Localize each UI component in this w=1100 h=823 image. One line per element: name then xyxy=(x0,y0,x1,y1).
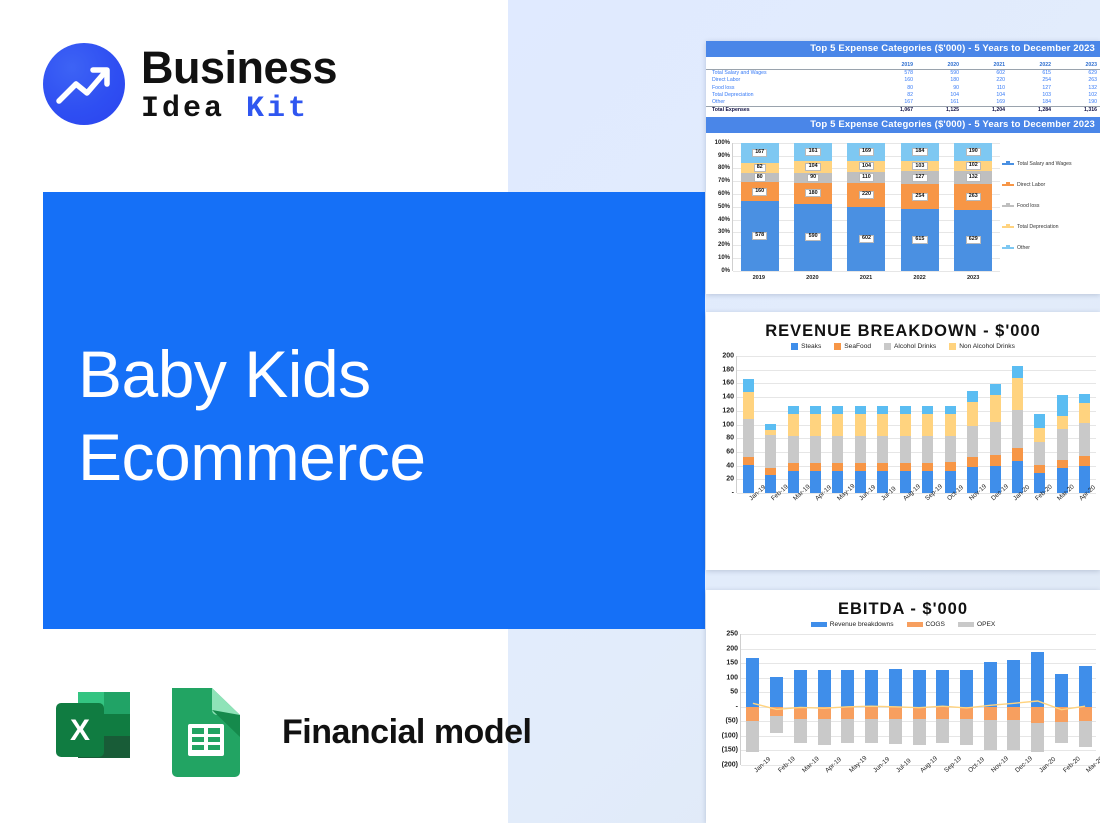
cell-value: 1,316 xyxy=(1054,106,1100,114)
bar-data-label: 102 xyxy=(966,162,981,170)
y-tick-label: 180 xyxy=(722,366,734,373)
legend-item[interactable]: Total Salary and Wages xyxy=(1002,161,1098,167)
cell-value: 161 xyxy=(916,98,962,106)
y-tick-label: 120 xyxy=(722,407,734,414)
bar-segment xyxy=(810,463,821,471)
bar-data-label: 90 xyxy=(807,174,819,182)
y-tick-label: 90% xyxy=(718,153,730,159)
bar-segment: 127 xyxy=(901,171,939,184)
cell-value: 127 xyxy=(1008,84,1054,91)
bar-segment xyxy=(922,463,933,471)
bar-segment xyxy=(922,436,933,463)
legend-swatch xyxy=(791,343,798,350)
x-tick-label: 2020 xyxy=(806,275,818,281)
bar-segment xyxy=(967,391,978,402)
bar-segment xyxy=(743,392,754,419)
y-tick-label: 0% xyxy=(721,268,730,274)
bar-segment xyxy=(877,414,888,436)
format-row: X Financial model xyxy=(46,682,531,783)
bar-segment xyxy=(1034,428,1045,442)
cell-value: 104 xyxy=(962,91,1008,98)
bar-data-label: 254 xyxy=(912,193,927,201)
y-tick-label: 60 xyxy=(726,448,734,455)
bar-segment: 167 xyxy=(741,143,779,163)
bar-data-label: 80 xyxy=(754,173,766,181)
bar-segment: 103 xyxy=(901,161,939,171)
bar-data-label: 104 xyxy=(859,162,874,170)
bar-segment xyxy=(832,471,843,493)
bar-segment: 104 xyxy=(794,161,832,173)
bar-column xyxy=(765,356,776,493)
legend-item[interactable]: Non Alcohol Drinks xyxy=(949,343,1015,350)
bar-segment xyxy=(743,465,754,493)
y-axis: 100%90%80%70%60%50%40%30%20%10%0% xyxy=(706,137,732,287)
bar-segment xyxy=(1012,378,1023,410)
bar-column xyxy=(1012,356,1023,493)
bar-segment xyxy=(810,436,821,463)
bar-column xyxy=(900,356,911,493)
bar-segment: 578 xyxy=(741,201,779,270)
bar-segment xyxy=(855,463,866,471)
bar-segment xyxy=(1034,465,1045,473)
bar-segment xyxy=(1079,394,1090,402)
bar-column xyxy=(832,356,843,493)
legend-swatch xyxy=(958,622,974,627)
bar-segment: 602 xyxy=(847,207,885,271)
cell-value: 615 xyxy=(1008,69,1054,77)
cell-value: 578 xyxy=(870,69,916,77)
legend-label: Total Salary and Wages xyxy=(1017,161,1072,167)
y-tick-label: 30% xyxy=(718,229,730,235)
x-axis-labels: 20192020202120222023 xyxy=(732,275,1000,281)
bar-segment xyxy=(900,436,911,463)
revenue-plot: 20018016014012010080604020-Jan-19Feb-19M… xyxy=(706,352,1100,537)
y-axis: 20018016014012010080604020- xyxy=(706,352,736,537)
x-tick-label: 2021 xyxy=(860,275,872,281)
bar-segment xyxy=(1012,410,1023,448)
y-tick-label: (200) xyxy=(722,762,738,769)
bar-segment xyxy=(1079,423,1090,456)
bar-segment: 160 xyxy=(741,182,779,201)
y-tick-label: (150) xyxy=(722,747,738,754)
bar-segment xyxy=(877,406,888,414)
bar-segment xyxy=(765,435,776,468)
table-row: Total Expenses1,0671,1251,2041,2841,316 xyxy=(706,106,1100,114)
cell-value: 169 xyxy=(962,98,1008,106)
bar-data-label: 263 xyxy=(966,193,981,201)
legend-swatch xyxy=(1002,163,1014,165)
legend-label: Alcohol Drinks xyxy=(894,343,936,350)
y-tick-label: 250 xyxy=(726,631,738,638)
bar-segment xyxy=(855,406,866,414)
y-tick-label: 60% xyxy=(718,191,730,197)
cell-value: 2021 xyxy=(962,61,1008,69)
bar-segment xyxy=(990,455,1001,466)
plot-area xyxy=(740,634,1096,765)
row-label: Direct Labor xyxy=(706,77,870,84)
y-tick-label: - xyxy=(736,703,738,710)
table-row: Other167161169184190 xyxy=(706,98,1100,106)
y-tick-label: 100% xyxy=(715,140,730,146)
bar-segment xyxy=(1034,414,1045,428)
bar-column xyxy=(945,356,956,493)
bar-segment xyxy=(788,463,799,471)
bar-segment xyxy=(945,436,956,462)
bar-segment: 254 xyxy=(901,184,939,209)
bar-data-label: 127 xyxy=(912,174,927,182)
bar-column: 1678280160578 xyxy=(741,143,779,271)
cell-value: 110 xyxy=(962,84,1008,91)
bar-segment xyxy=(990,384,1001,395)
trending-up-arrow-icon xyxy=(43,43,125,125)
cell-value: 254 xyxy=(1008,77,1054,84)
cell-value: 184 xyxy=(1008,98,1054,106)
cell-value: 80 xyxy=(870,84,916,91)
bar-column xyxy=(810,356,821,493)
legend-swatch xyxy=(1002,205,1014,207)
cell-value: 104 xyxy=(916,91,962,98)
bar-segment xyxy=(743,379,754,391)
y-tick-label: 80 xyxy=(726,435,734,442)
bar-segment xyxy=(765,468,776,475)
bar-segment xyxy=(900,463,911,471)
table-row: Direct Labor160180220254263 xyxy=(706,77,1100,84)
x-tick-label: 2019 xyxy=(753,275,765,281)
bar-segment xyxy=(1079,403,1090,424)
brand-name-line1: Business xyxy=(141,45,337,90)
bar-segment: 90 xyxy=(794,173,832,183)
legend-swatch xyxy=(1002,247,1014,249)
bar-segment xyxy=(945,462,956,471)
bar-data-label: 169 xyxy=(859,148,874,156)
bar-segment xyxy=(922,406,933,414)
page-title-line2: Ecommerce xyxy=(78,416,638,499)
bar-segment xyxy=(1012,366,1023,378)
bar-segment xyxy=(743,457,754,465)
page-title: Baby Kids Ecommerce xyxy=(78,333,638,498)
bar-segment xyxy=(1057,460,1068,468)
bar-segment xyxy=(1057,395,1068,416)
slide-canvas: Business Idea Kit Baby Kids Ecommerce X xyxy=(0,0,1100,823)
bar-segment: 615 xyxy=(901,209,939,270)
brand-logo: Business Idea Kit xyxy=(43,43,337,125)
legend-swatch xyxy=(834,343,841,350)
bar-column: 169104110220602 xyxy=(847,143,885,271)
bar-data-label: 167 xyxy=(752,149,767,157)
legend-item[interactable]: COGS xyxy=(907,621,945,628)
y-tick-label: 10% xyxy=(718,255,730,261)
bar-segment: 220 xyxy=(847,183,885,206)
bar-segment xyxy=(967,457,978,467)
table-row: 20192020202120222023 xyxy=(706,61,1100,69)
cell-value: 1,204 xyxy=(962,106,1008,114)
legend-label: Direct Labor xyxy=(1017,182,1045,188)
bar-segment xyxy=(1034,442,1045,465)
expense-stacked-chart: 100%90%80%70%60%50%40%30%20%10%0%1678280… xyxy=(706,137,1100,287)
svg-text:X: X xyxy=(70,714,90,747)
cell-value: 103 xyxy=(1008,91,1054,98)
bar-segment xyxy=(832,406,843,414)
cell-value: 2020 xyxy=(916,61,962,69)
cell-value: 90 xyxy=(916,84,962,91)
revenue-chart-legend: SteaksSeaFoodAlcohol DrinksNon Alcohol D… xyxy=(706,343,1100,350)
bar-column xyxy=(990,356,1001,493)
y-tick-label: - xyxy=(732,490,734,497)
plot-area xyxy=(736,356,1096,493)
legend-item[interactable]: Steaks xyxy=(791,343,821,350)
bar-segment: 104 xyxy=(847,161,885,172)
legend-label: OPEX xyxy=(977,621,995,628)
legend-label: Total Depreciation xyxy=(1017,224,1059,230)
bar-segment xyxy=(810,406,821,414)
y-tick-label: 20 xyxy=(726,476,734,483)
page-title-line1: Baby Kids xyxy=(78,333,638,416)
bar-data-label: 578 xyxy=(752,232,767,240)
legend-item[interactable]: Revenue breakdowns xyxy=(811,621,894,628)
financial-model-label: Financial model xyxy=(282,713,531,752)
legend-swatch xyxy=(1002,184,1014,186)
y-tick-label: 100 xyxy=(722,421,734,428)
bar-segment xyxy=(945,414,956,436)
row-label: Food loss xyxy=(706,84,870,91)
bar-segment xyxy=(877,436,888,463)
bar-column xyxy=(1034,356,1045,493)
bar-column xyxy=(967,356,978,493)
cell-value: 1,125 xyxy=(916,106,962,114)
legend-item[interactable]: SeaFood xyxy=(834,343,871,350)
bar-data-label: 82 xyxy=(754,164,766,172)
legend-label: COGS xyxy=(926,621,945,628)
bar-data-label: 629 xyxy=(966,236,981,244)
ebitda-chart-legend: Revenue breakdownsCOGSOPEX xyxy=(706,621,1100,628)
expense-table: 20192020202120222023Total Salary and Wag… xyxy=(706,61,1100,114)
y-tick-label: 160 xyxy=(722,380,734,387)
row-label: Other xyxy=(706,98,870,106)
cell-value: 220 xyxy=(962,77,1008,84)
bar-segment xyxy=(877,463,888,471)
legend-swatch xyxy=(884,343,891,350)
bar-segment xyxy=(788,471,799,493)
bar-column xyxy=(743,356,754,493)
legend-swatch xyxy=(949,343,956,350)
bar-segment xyxy=(900,406,911,414)
bar-column xyxy=(1079,356,1090,493)
legend-label: SeaFood xyxy=(844,343,871,350)
bar-column xyxy=(877,356,888,493)
bar-segment xyxy=(990,395,1001,422)
bar-column xyxy=(855,356,866,493)
bar-data-label: 180 xyxy=(805,189,820,197)
bar-segment: 132 xyxy=(954,171,992,184)
legend-item[interactable]: Alcohol Drinks xyxy=(884,343,936,350)
legend-item[interactable]: OPEX xyxy=(958,621,995,628)
cell-value: 160 xyxy=(870,77,916,84)
bar-data-label: 184 xyxy=(912,148,927,156)
y-tick-label: 40 xyxy=(726,462,734,469)
brand-kit-word: Kit xyxy=(246,92,309,126)
y-tick-label: 40% xyxy=(718,217,730,223)
cell-value: 180 xyxy=(916,77,962,84)
bar-segment: 82 xyxy=(741,163,779,173)
expense-chart-legend: Total Salary and WagesDirect LaborFood l… xyxy=(1002,161,1098,266)
bar-column: 190102132263629 xyxy=(954,143,992,271)
bar-segment xyxy=(900,414,911,436)
bar-segment: 629 xyxy=(954,210,992,271)
bar-segment xyxy=(788,414,799,436)
bar-segment xyxy=(967,402,978,426)
cell-value: 2023 xyxy=(1054,61,1100,69)
x-tick-label: 2023 xyxy=(967,275,979,281)
legend-label: Other xyxy=(1017,245,1030,251)
revenue-chart-title: REVENUE BREAKDOWN - $'000 xyxy=(706,312,1100,341)
bar-segment xyxy=(967,426,978,457)
row-label: Total Salary and Wages xyxy=(706,69,870,77)
x-tick-label: 2022 xyxy=(913,275,925,281)
cell-value: 82 xyxy=(870,91,916,98)
ebitda-card: EBITDA - $'000 Revenue breakdownsCOGSOPE… xyxy=(706,590,1100,823)
bar-segment xyxy=(1057,416,1068,430)
bar-data-label: 602 xyxy=(859,235,874,243)
legend-item[interactable]: Other xyxy=(1002,245,1098,251)
y-tick-label: 50% xyxy=(718,204,730,210)
legend-item[interactable]: Food loss xyxy=(1002,203,1098,209)
bar-segment xyxy=(743,419,754,457)
bar-column: 184103127254615 xyxy=(901,143,939,271)
cell-value: 602 xyxy=(962,69,1008,77)
row-label xyxy=(706,61,870,69)
bar-group xyxy=(737,356,1096,493)
bar-segment: 102 xyxy=(954,161,992,171)
bar-column xyxy=(1057,356,1068,493)
legend-swatch xyxy=(811,622,827,627)
y-tick-label: 140 xyxy=(722,394,734,401)
cell-value: 590 xyxy=(916,69,962,77)
bar-segment: 110 xyxy=(847,172,885,184)
google-sheets-icon xyxy=(164,682,248,783)
bar-group: 1678280160578161104901805901691041102206… xyxy=(733,143,1000,271)
cell-value: 263 xyxy=(1054,77,1100,84)
bar-data-label: 110 xyxy=(859,173,874,181)
cell-value: 132 xyxy=(1054,84,1100,91)
bar-segment: 263 xyxy=(954,184,992,210)
cell-value: 167 xyxy=(870,98,916,106)
bar-data-label: 103 xyxy=(912,162,927,170)
legend-swatch xyxy=(907,622,923,627)
legend-swatch xyxy=(1002,226,1014,228)
bar-segment xyxy=(810,414,821,436)
bar-segment xyxy=(922,414,933,436)
bar-segment: 590 xyxy=(794,204,832,271)
ebitda-plot: 25020015010050-(50)(100)(150)(200)Jan-19… xyxy=(706,630,1100,805)
bar-data-label: 132 xyxy=(966,173,981,181)
legend-item[interactable]: Direct Labor xyxy=(1002,182,1098,188)
bar-segment xyxy=(1012,448,1023,461)
bar-segment: 190 xyxy=(954,143,992,161)
bar-column: 16110490180590 xyxy=(794,143,832,271)
table-row: Total Salary and Wages578590602615629 xyxy=(706,69,1100,77)
microsoft-excel-icon: X xyxy=(46,682,142,783)
y-tick-label: 200 xyxy=(722,353,734,360)
bar-segment xyxy=(810,471,821,493)
y-tick-label: (50) xyxy=(726,718,738,725)
bar-segment: 80 xyxy=(741,173,779,183)
bar-segment xyxy=(945,406,956,414)
cell-value: 2022 xyxy=(1008,61,1054,69)
plot-area: 1678280160578161104901805901691041102206… xyxy=(732,143,1000,271)
cell-value: 190 xyxy=(1054,98,1100,106)
table-row: Total Depreciation82104104103102 xyxy=(706,91,1100,98)
gridline xyxy=(733,271,1000,272)
bar-segment xyxy=(855,436,866,463)
bar-data-label: 220 xyxy=(859,191,874,199)
legend-label: Revenue breakdowns xyxy=(830,621,894,628)
bar-segment xyxy=(788,406,799,414)
legend-label: Non Alcohol Drinks xyxy=(959,343,1015,350)
bar-data-label: 615 xyxy=(912,236,927,244)
bar-segment xyxy=(788,436,799,463)
cell-value: 1,284 xyxy=(1008,106,1054,114)
y-tick-label: 70% xyxy=(718,178,730,184)
bar-data-label: 161 xyxy=(805,148,820,156)
brand-name-line2: Idea Kit xyxy=(141,94,337,124)
cell-value: 1,067 xyxy=(870,106,916,114)
ebitda-line xyxy=(741,634,1096,765)
expense-chart-title: Top 5 Expense Categories ($'000) - 5 Yea… xyxy=(706,117,1100,133)
y-tick-label: 20% xyxy=(718,242,730,248)
bar-data-label: 104 xyxy=(805,163,820,171)
legend-label: Steaks xyxy=(801,343,821,350)
bar-data-label: 590 xyxy=(805,233,820,241)
legend-item[interactable]: Total Depreciation xyxy=(1002,224,1098,230)
bar-data-label: 160 xyxy=(752,188,767,196)
bar-segment xyxy=(832,414,843,436)
y-tick-label: 150 xyxy=(726,660,738,667)
bar-segment: 169 xyxy=(847,143,885,161)
bar-column xyxy=(922,356,933,493)
expense-table-title: Top 5 Expense Categories ($'000) - 5 Yea… xyxy=(706,41,1100,57)
legend-label: Food loss xyxy=(1017,203,1040,209)
bar-segment xyxy=(1057,429,1068,460)
revenue-breakdown-card: REVENUE BREAKDOWN - $'000 SteaksSeaFoodA… xyxy=(706,312,1100,570)
y-tick-label: (100) xyxy=(722,732,738,739)
y-tick-label: 100 xyxy=(726,674,738,681)
expense-categories-card: Top 5 Expense Categories ($'000) - 5 Yea… xyxy=(706,41,1100,294)
cell-value: 102 xyxy=(1054,91,1100,98)
bar-segment xyxy=(832,436,843,463)
bar-segment: 184 xyxy=(901,143,939,161)
bar-segment xyxy=(855,414,866,436)
bar-segment: 161 xyxy=(794,143,832,161)
bar-segment: 180 xyxy=(794,183,832,203)
bar-segment xyxy=(765,475,776,493)
bar-data-label: 190 xyxy=(966,148,981,156)
brand-idea-word: Idea xyxy=(141,92,225,126)
y-tick-label: 80% xyxy=(718,165,730,171)
row-label: Total Expenses xyxy=(706,106,870,114)
bar-column xyxy=(788,356,799,493)
table-row: Food loss8090110127132 xyxy=(706,84,1100,91)
row-label: Total Depreciation xyxy=(706,91,870,98)
cell-value: 629 xyxy=(1054,69,1100,77)
y-axis: 25020015010050-(50)(100)(150)(200) xyxy=(706,630,740,805)
ebitda-chart-title: EBITDA - $'000 xyxy=(706,590,1100,619)
y-tick-label: 200 xyxy=(726,645,738,652)
y-tick-label: 50 xyxy=(730,689,738,696)
cell-value: 2019 xyxy=(870,61,916,69)
bar-segment xyxy=(1079,456,1090,466)
bar-segment xyxy=(832,463,843,471)
bar-segment xyxy=(990,422,1001,454)
